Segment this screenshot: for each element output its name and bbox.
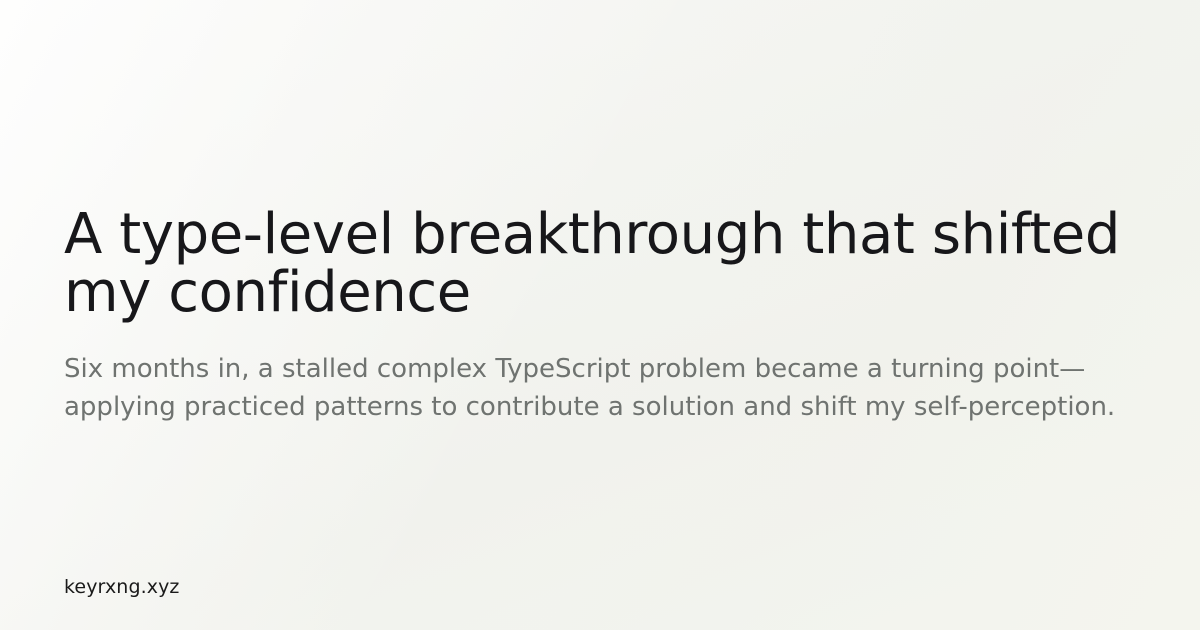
open-graph-card: A type-level breakthrough that shifted m… bbox=[0, 0, 1200, 630]
top-spacer bbox=[64, 0, 1136, 206]
page-subtitle: Six months in, a stalled complex TypeScr… bbox=[64, 322, 1136, 426]
card-footer: keyrxng.xyz bbox=[64, 574, 180, 600]
page-title: A type-level breakthrough that shifted m… bbox=[64, 206, 1136, 322]
site-domain-label: keyrxng.xyz bbox=[64, 574, 180, 600]
